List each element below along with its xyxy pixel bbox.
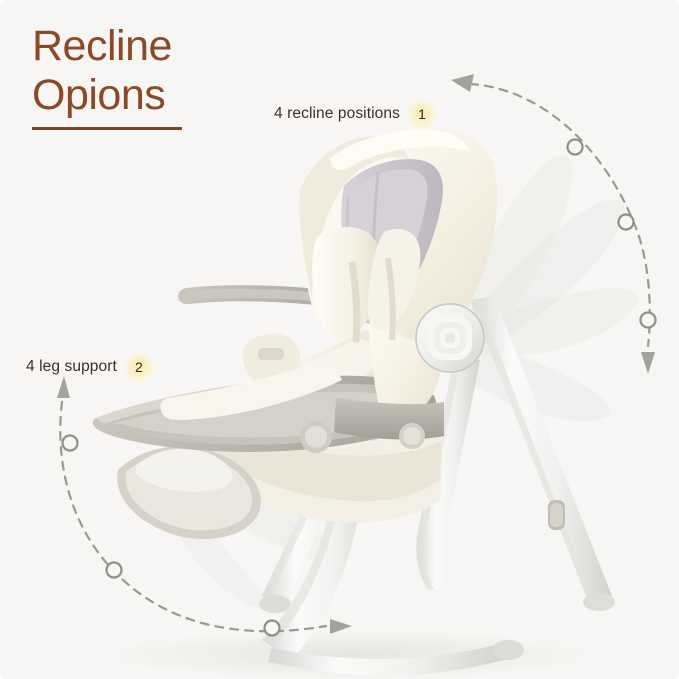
callout-recline-badge-number: 1 <box>418 106 426 122</box>
callout-leg-support: 4 leg support 2 <box>26 352 154 382</box>
callout-recline-badge: 1 <box>407 99 437 129</box>
callout-recline-label: 4 recline positions <box>274 105 400 123</box>
title-line-1: Recline <box>32 22 352 71</box>
callout-leg-label: 4 leg support <box>26 358 117 376</box>
callout-leg-badge-number: 2 <box>135 359 143 375</box>
title-underline <box>32 127 182 130</box>
callout-recline-positions: 4 recline positions 1 <box>274 99 437 129</box>
product-feature-image: Recline Opions <box>0 0 679 679</box>
callout-leg-badge: 2 <box>124 352 154 382</box>
recline-pivot-hub <box>416 304 484 372</box>
